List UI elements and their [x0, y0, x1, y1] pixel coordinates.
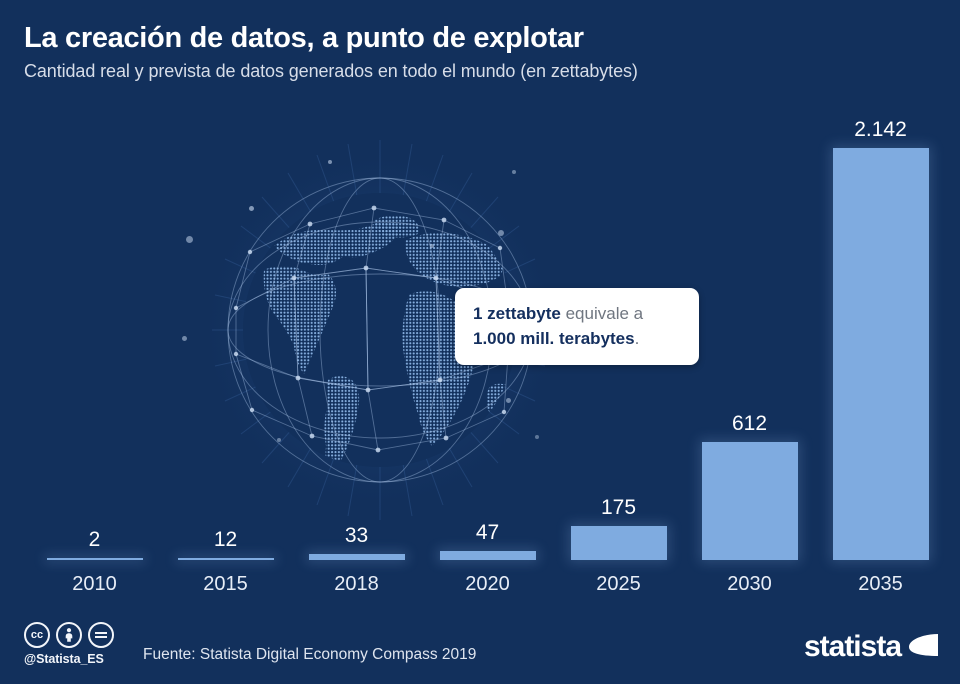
- statista-logo-mark: [908, 634, 938, 661]
- source-note: Fuente: Statista Digital Economy Compass…: [143, 646, 476, 664]
- bar: [47, 558, 143, 560]
- bar-category-label: 2025: [553, 573, 684, 596]
- bar-category-label: 2030: [684, 573, 815, 596]
- bar-value-label: 612: [684, 412, 815, 436]
- bar-category-label: 2018: [291, 573, 422, 596]
- bar-category-label: 2015: [160, 573, 291, 596]
- bar-value-label: 2: [29, 528, 160, 552]
- page-subtitle: Cantidad real y prevista de datos genera…: [24, 61, 638, 82]
- bar: [178, 558, 274, 560]
- page-title: La creación de datos, a punto de explota…: [24, 22, 584, 55]
- zettabyte-definition-callout: 1 zettabyte equivale a 1.000 mill. terab…: [455, 288, 699, 365]
- header: La creación de datos, a punto de explota…: [0, 0, 960, 104]
- bar-group: 122015: [160, 104, 291, 604]
- bar-group: 332018: [291, 104, 422, 604]
- callout-line1-bold: 1 zettabyte: [473, 304, 561, 323]
- statista-logo: statista: [804, 632, 938, 662]
- bar: [571, 526, 667, 560]
- bar-category-label: 2035: [815, 573, 946, 596]
- attribution-person-icon: [56, 622, 82, 648]
- bar-group: 22010: [29, 104, 160, 604]
- callout-line2-rest: .: [635, 329, 640, 348]
- bar-category-label: 2010: [29, 573, 160, 596]
- statista-logo-text: statista: [804, 632, 901, 662]
- cc-icon: cc: [24, 622, 50, 648]
- callout-line2-bold: 1.000 mill. terabytes: [473, 329, 635, 348]
- bar-category-label: 2020: [422, 573, 553, 596]
- bar-value-label: 2.142: [815, 118, 946, 142]
- bar: [702, 442, 798, 560]
- bar-value-label: 12: [160, 528, 291, 552]
- bar-value-label: 175: [553, 496, 684, 520]
- bar: [440, 551, 536, 560]
- callout-line-1: 1 zettabyte equivale a: [473, 301, 683, 326]
- bar-group: 6122030: [684, 104, 815, 604]
- bar-value-label: 33: [291, 524, 422, 548]
- bar: [833, 148, 929, 560]
- bar-group: 2.1422035: [815, 104, 946, 604]
- statista-infographic: La creación de datos, a punto de explota…: [0, 0, 960, 684]
- no-derivatives-equals-icon: [88, 622, 114, 648]
- callout-line1-rest: equivale a: [561, 304, 643, 323]
- callout-line-2: 1.000 mill. terabytes.: [473, 326, 683, 351]
- creative-commons-icons: cc: [24, 622, 114, 648]
- bar-value-label: 47: [422, 521, 553, 545]
- statista-handle: @Statista_ES: [24, 652, 104, 666]
- bar: [309, 554, 405, 560]
